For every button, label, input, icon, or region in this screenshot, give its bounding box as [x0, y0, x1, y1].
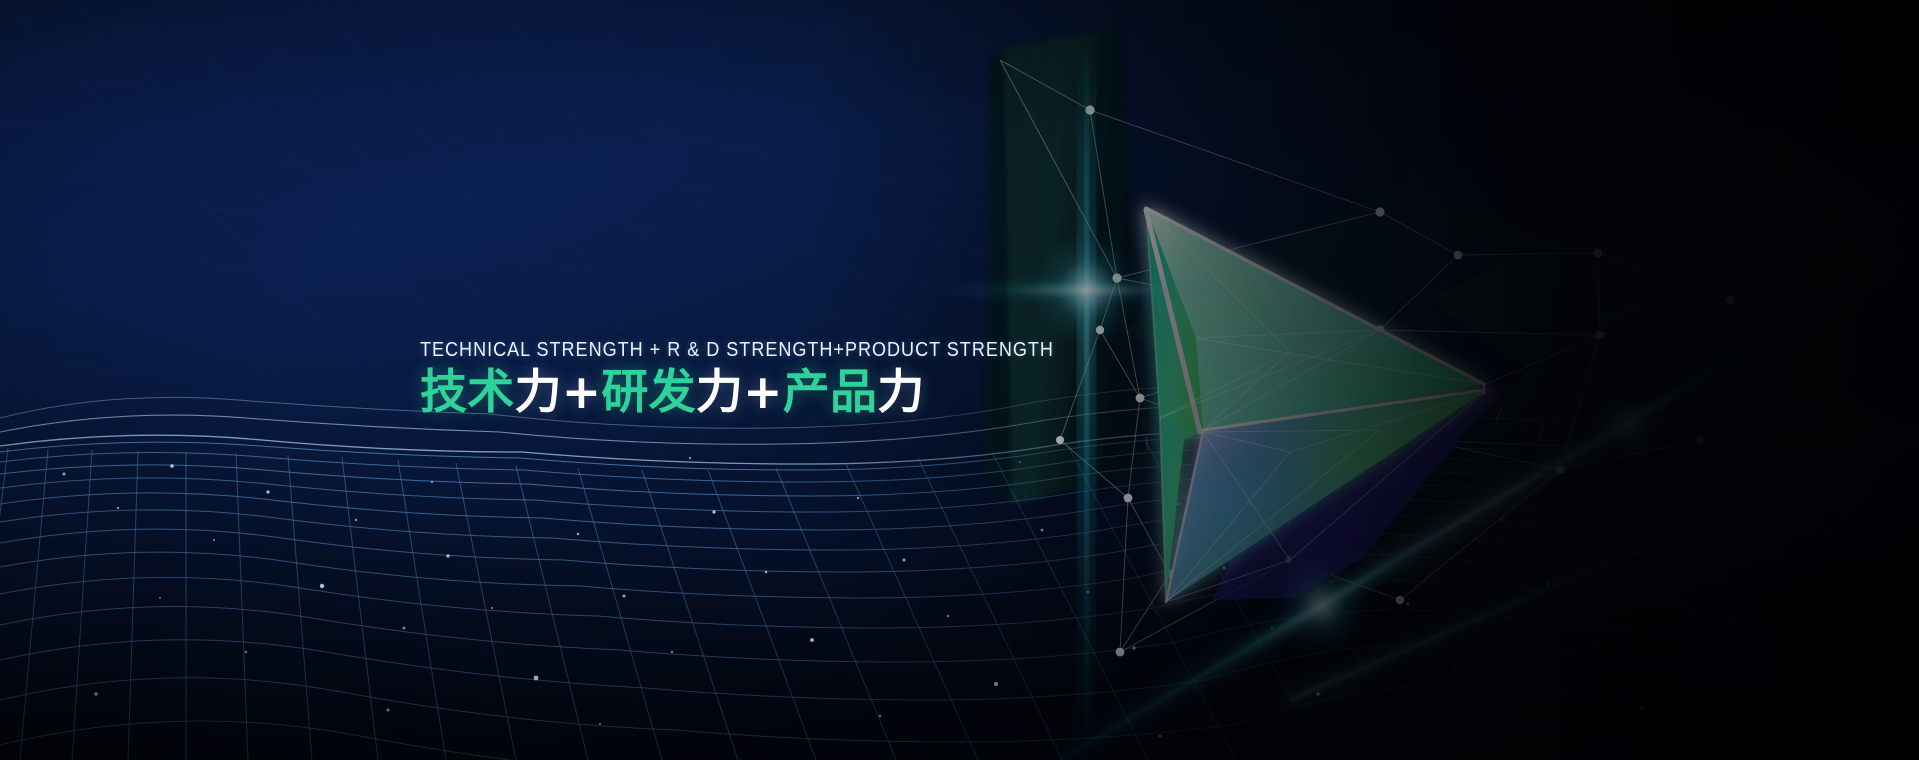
banner-stage: TECHNICAL STRENGTH + R & D STRENGTH+PROD… [0, 0, 1919, 760]
beam-diagonal-main [1060, 248, 1919, 760]
headline-segment-6: + [743, 365, 783, 420]
dark-chevron-band [1120, 130, 1919, 600]
page-title: 技术力+研发力+产品力 [420, 368, 1140, 418]
prism-face-spine-lower [1160, 418, 1203, 602]
headline-segment-5: 力 [696, 365, 743, 420]
headline-segment-3: + [562, 365, 602, 420]
prism-surface-wires [1146, 208, 1484, 602]
dark-tower-slab [985, 28, 1150, 505]
prism-edge-highlights [1146, 208, 1484, 602]
prism-face-top [1146, 208, 1484, 430]
prism-indigo-wedge [1286, 386, 1498, 600]
beam-diagonal-secondary [1290, 428, 1919, 700]
headline-segment-8: 力 [877, 365, 924, 420]
headline-segment-2: 力 [514, 365, 561, 420]
beam-upper-right-streak [1600, 200, 1919, 320]
constellation-nodes [1056, 105, 1734, 656]
prism-face-spine-upper [1146, 208, 1203, 430]
headline-segment-4: 研发 [601, 365, 695, 420]
eyebrow-text: TECHNICAL STRENGTH + R & D STRENGTH+PROD… [420, 338, 1054, 362]
accent-ticks [1145, 404, 1856, 521]
prism-face-bottom [1166, 392, 1484, 602]
headline-segment-1: 技术 [420, 365, 514, 420]
headline-block: TECHNICAL STRENGTH + R & D STRENGTH+PROD… [420, 338, 1140, 418]
headline-segment-7: 产品 [783, 365, 877, 420]
mesh-particles [63, 457, 1876, 751]
prism-indigo-wedge-2 [1212, 394, 1502, 600]
